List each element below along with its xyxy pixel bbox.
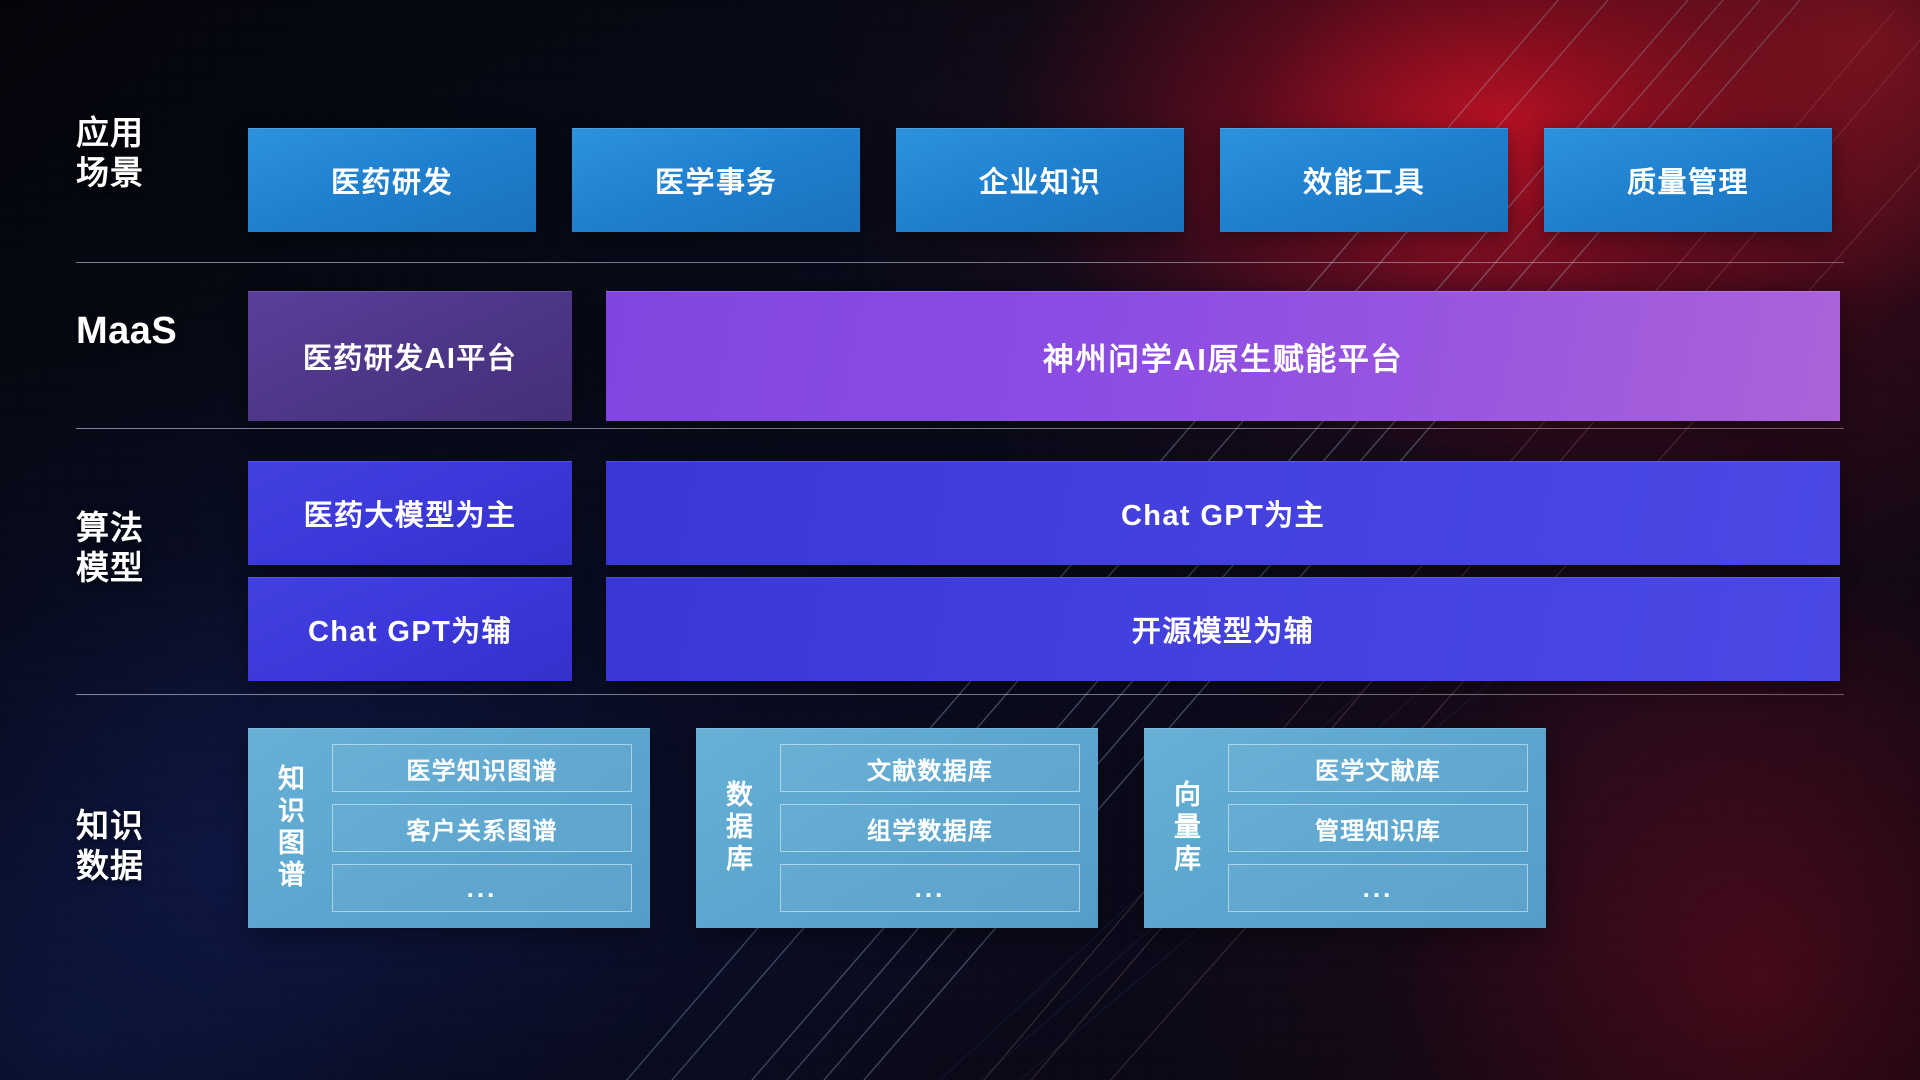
app-box-medical-affairs[interactable]: 医学事务 (572, 128, 860, 232)
knowledge-group-items: 医学文献库 管理知识库 ... (1228, 744, 1528, 912)
row-label-line2: 模型 (76, 548, 232, 588)
app-box-efficiency-tools[interactable]: 效能工具 (1220, 128, 1508, 232)
knowledge-group-items: 文献数据库 组学数据库 ... (780, 744, 1080, 912)
row-application-scenario: 应用 场景 医药研发 医学事务 企业知识 效能工具 质量管理 (0, 0, 1920, 264)
row-label-knowledge-data: 知识 数据 (76, 806, 232, 887)
knowledge-group-database[interactable]: 数据库 文献数据库 组学数据库 ... (696, 728, 1098, 928)
row-label-line1: 知识 (76, 806, 232, 846)
knowledge-group-title-vector-store: 向量库 (1162, 780, 1214, 876)
knowledge-group-title-knowledge-graph: 知识图谱 (266, 764, 318, 891)
knowledge-item-medical-knowledge-graph[interactable]: 医学知识图谱 (332, 744, 632, 792)
knowledge-item-more-ellipsis[interactable]: ... (332, 864, 632, 912)
app-box-enterprise-knowledge[interactable]: 企业知识 (896, 128, 1184, 232)
architecture-diagram: 应用 场景 医药研发 医学事务 企业知识 效能工具 质量管理 MaaS 医药研发… (0, 0, 1920, 1080)
divider-after-application-scenario (76, 262, 1844, 263)
knowledge-item-literature-database[interactable]: 文献数据库 (780, 744, 1080, 792)
row-label-algorithm-model: 算法 模型 (76, 508, 232, 589)
knowledge-group-items: 医学知识图谱 客户关系图谱 ... (332, 744, 632, 912)
knowledge-item-medical-literature-store[interactable]: 医学文献库 (1228, 744, 1528, 792)
row-algorithm-model: 算法 模型 医药大模型为主 Chat GPT为主 Chat GPT为辅 开源模型… (0, 430, 1920, 698)
knowledge-group-knowledge-graph[interactable]: 知识图谱 医学知识图谱 客户关系图谱 ... (248, 728, 650, 928)
algo-box-opensource-secondary[interactable]: 开源模型为辅 (606, 577, 1840, 681)
knowledge-item-more-ellipsis[interactable]: ... (780, 864, 1080, 912)
knowledge-item-more-ellipsis[interactable]: ... (1228, 864, 1528, 912)
divider-after-maas (76, 428, 1844, 429)
row-maas: MaaS 医药研发AI平台 神州问学AI原生赋能平台 (0, 264, 1920, 430)
app-box-medical-rd[interactable]: 医药研发 (248, 128, 536, 232)
row-label-line2: 场景 (76, 153, 232, 193)
knowledge-data-groups: 知识图谱 医学知识图谱 客户关系图谱 ... 数据库 文献数据库 组学数据库 .… (248, 728, 1546, 928)
knowledge-item-omics-database[interactable]: 组学数据库 (780, 804, 1080, 852)
application-scenario-boxes: 医药研发 医学事务 企业知识 效能工具 质量管理 (248, 128, 1832, 232)
row-label-line1: 应用 (76, 113, 232, 153)
algo-box-chatgpt-primary[interactable]: Chat GPT为主 (606, 461, 1840, 565)
row-label-application-scenario: 应用 场景 (76, 113, 232, 194)
app-box-quality-management[interactable]: 质量管理 (1544, 128, 1832, 232)
row-label-line2: 数据 (76, 846, 232, 886)
algo-box-chatgpt-secondary[interactable]: Chat GPT为辅 (248, 577, 572, 681)
maas-boxes: 医药研发AI平台 神州问学AI原生赋能平台 (248, 291, 1840, 421)
knowledge-item-management-knowledge-store[interactable]: 管理知识库 (1228, 804, 1528, 852)
maas-box-pharma-ai-platform[interactable]: 医药研发AI平台 (248, 291, 572, 421)
knowledge-group-vector-store[interactable]: 向量库 医学文献库 管理知识库 ... (1144, 728, 1546, 928)
maas-box-shenzhou-wenxue-platform[interactable]: 神州问学AI原生赋能平台 (606, 291, 1840, 421)
divider-after-algorithm-model (76, 694, 1844, 695)
algorithm-band-primary: 医药大模型为主 Chat GPT为主 (248, 461, 1840, 565)
row-label-line1: 算法 (76, 508, 232, 548)
knowledge-group-title-database: 数据库 (714, 780, 766, 876)
algorithm-band-secondary: Chat GPT为辅 开源模型为辅 (248, 577, 1840, 681)
row-label-maas: MaaS (76, 308, 232, 354)
algo-box-pharma-large-model-primary[interactable]: 医药大模型为主 (248, 461, 572, 565)
diagram-canvas: 应用 场景 医药研发 医学事务 企业知识 效能工具 质量管理 MaaS 医药研发… (0, 0, 1920, 1080)
knowledge-item-customer-relation-graph[interactable]: 客户关系图谱 (332, 804, 632, 852)
